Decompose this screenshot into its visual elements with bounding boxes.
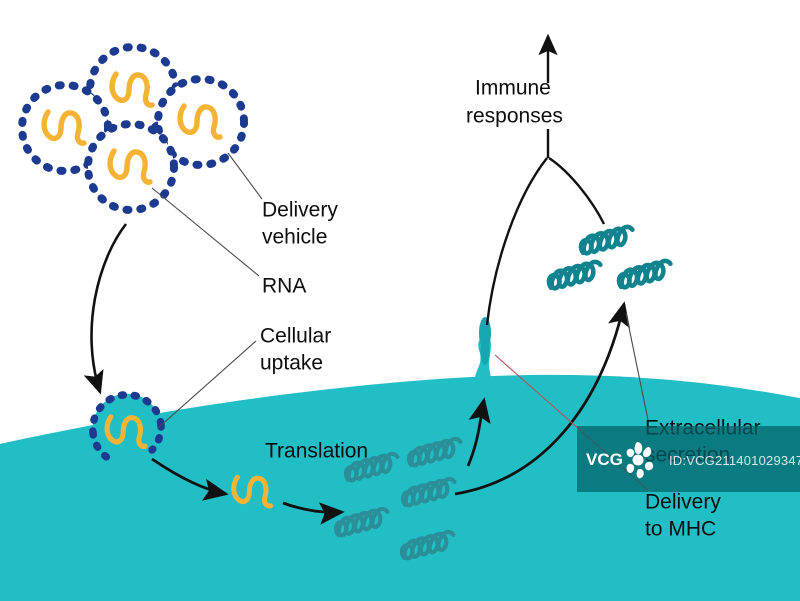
label-delivery-to-mhc-line1: Delivery [645, 491, 721, 514]
mhc-molecule [472, 317, 494, 393]
label-cellular-uptake-line1: Cellular [260, 325, 331, 348]
label-extracellular-secretion-line2: secretion [645, 444, 730, 467]
arrow-secreted-to-immune [549, 158, 604, 224]
label-cellular-uptake-line2: uptake [260, 352, 323, 375]
diagram-canvas: Delivery vehicle RNA Cellular uptake Tra… [0, 0, 800, 601]
uptake-vesicle [93, 394, 161, 462]
secreted-proteins [547, 226, 673, 289]
label-delivery-vehicle-line1: Delivery [262, 199, 338, 222]
leader-line-delivery-vehicle [228, 153, 262, 199]
label-delivery-to-mhc-line2: to MHC [645, 518, 716, 541]
mrna-vaccine-diagram: Delivery vehicle RNA Cellular uptake Tra… [0, 0, 800, 601]
lipid-nanoparticle-bottom [88, 124, 174, 210]
label-immune-responses-line1: Immune [475, 77, 551, 100]
label-translation: Translation [265, 440, 368, 463]
label-immune-responses-line2: responses [466, 105, 563, 128]
arrow-mhc-to-immune [487, 158, 547, 325]
label-rna: RNA [262, 275, 306, 298]
label-extracellular-secretion-line1: Extracellular [645, 417, 761, 440]
arrow-uptake [92, 224, 126, 392]
leader-line-rna [152, 188, 259, 276]
label-delivery-vehicle-line2: vehicle [262, 226, 327, 249]
